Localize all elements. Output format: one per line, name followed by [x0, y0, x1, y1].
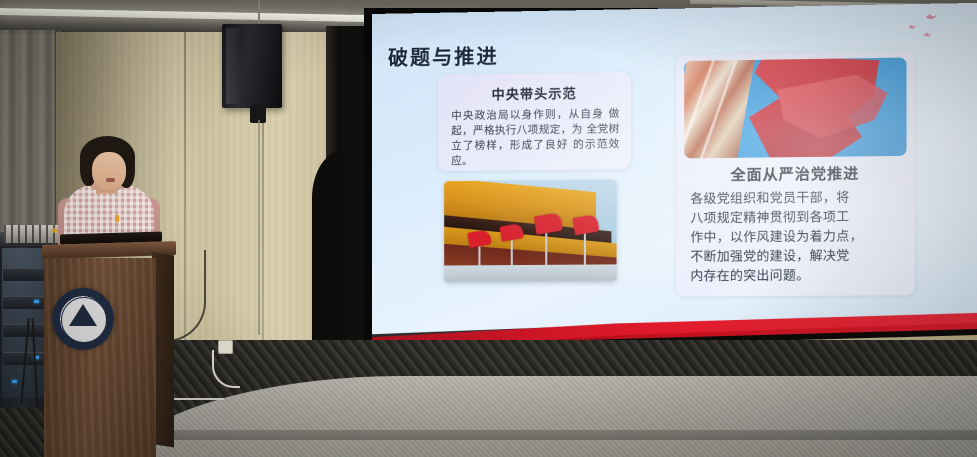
presenter-face: [92, 152, 126, 190]
card-right-heading: 全面从严治党推进: [676, 162, 915, 186]
card-right-line-5: 内存在的突出问题。: [690, 265, 902, 286]
dove-icon: [923, 32, 931, 36]
podium-wood-grain: [44, 258, 156, 457]
dove-icon: [925, 14, 937, 19]
tiananmen-photo: [444, 179, 616, 281]
wall-mounted-loudspeaker: [222, 24, 282, 108]
speaker-highlight: [226, 28, 242, 104]
mixer-knob[interactable]: [52, 228, 57, 233]
card-left-heading: 中央带头示范: [438, 82, 631, 104]
crest-base-mark: [73, 322, 89, 326]
photo-plaza-base: [444, 264, 616, 281]
red-flag-photo: [684, 57, 906, 158]
screenshot-root: 破题与推进 中央带头示范 中央政治局以身作则，从自身 做起，严格执行八项规定，为…: [0, 0, 977, 457]
building-edge: [684, 61, 715, 159]
card-right-line-4: 不断加强党的建设，解决党: [690, 245, 902, 266]
dark-wall-column-curve: [312, 150, 344, 365]
card-left-line-1: 中央政治局以身作则，从自身: [451, 108, 604, 122]
slide-card-right: 全面从严治党推进 各级党组织和党员干部，将 八项规定精神贯彻到各项工 作中，以作…: [676, 51, 915, 296]
slide-title: 破题与推进: [388, 40, 499, 71]
dove-icon: [909, 25, 916, 29]
card-right-line-2: 八项规定精神贯彻到各项工: [690, 206, 902, 227]
card-right-body: 各级党组织和党员干部，将 八项规定精神贯彻到各项工 作中，以作风建设为着力点， …: [690, 187, 902, 286]
presentation-screen[interactable]: 破题与推进 中央带头示范 中央政治局以身作则，从自身 做起，严格执行八项规定，为…: [372, 3, 977, 344]
rack-unit: [3, 296, 49, 309]
card-left-body: 中央政治局以身作则，从自身 做起，严格执行八项规定，为 全党树立了榜样，形成了良…: [451, 107, 619, 170]
presenter-mouth: [106, 178, 115, 182]
stage-edge: [104, 430, 977, 440]
rack-unit: [3, 268, 49, 281]
card-right-line-1: 各级党组织和党员干部，将: [690, 187, 902, 208]
rack-indicator-led: [12, 380, 17, 383]
podium-front-panel: [44, 258, 156, 457]
speaker-cable: [258, 120, 260, 335]
card-right-line-3: 作中，以作风建设为着力点，: [690, 226, 902, 247]
university-crest-icon: [52, 288, 114, 350]
lapel-pin-icon: [115, 215, 119, 222]
rack-indicator-led: [34, 300, 39, 303]
slide-card-left: 中央带头示范 中央政治局以身作则，从自身 做起，严格执行八项规定，为 全党树立了…: [438, 72, 631, 171]
building-edge: [700, 60, 738, 158]
